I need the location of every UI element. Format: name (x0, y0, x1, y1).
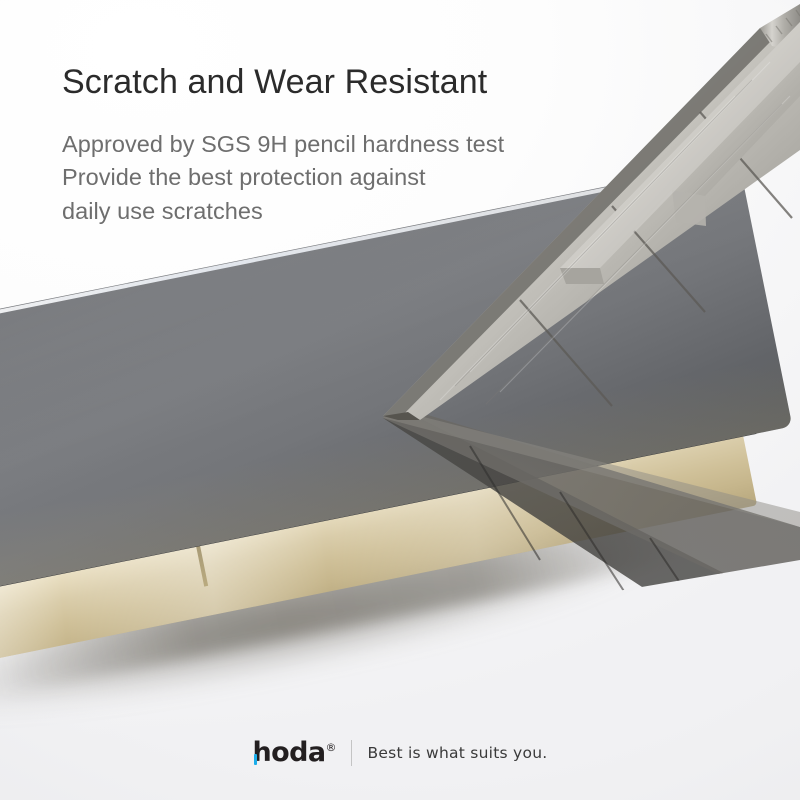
product-marketing-image: Scratch and Wear Resistant Approved by S… (0, 0, 800, 800)
knife-blade (383, 0, 800, 420)
hoda-logo: hoda® (253, 739, 337, 766)
footer-divider (351, 740, 352, 766)
utility-knife (0, 0, 800, 800)
logo-wordmark: hoda (253, 737, 326, 768)
blade-reflection (383, 406, 800, 690)
registered-trademark-icon: ® (325, 741, 336, 754)
brand-tagline: Best is what suits you. (367, 744, 547, 762)
logo-accent-bar (254, 754, 258, 765)
footer-brand-bar: hoda® Best is what suits you. (0, 739, 800, 766)
